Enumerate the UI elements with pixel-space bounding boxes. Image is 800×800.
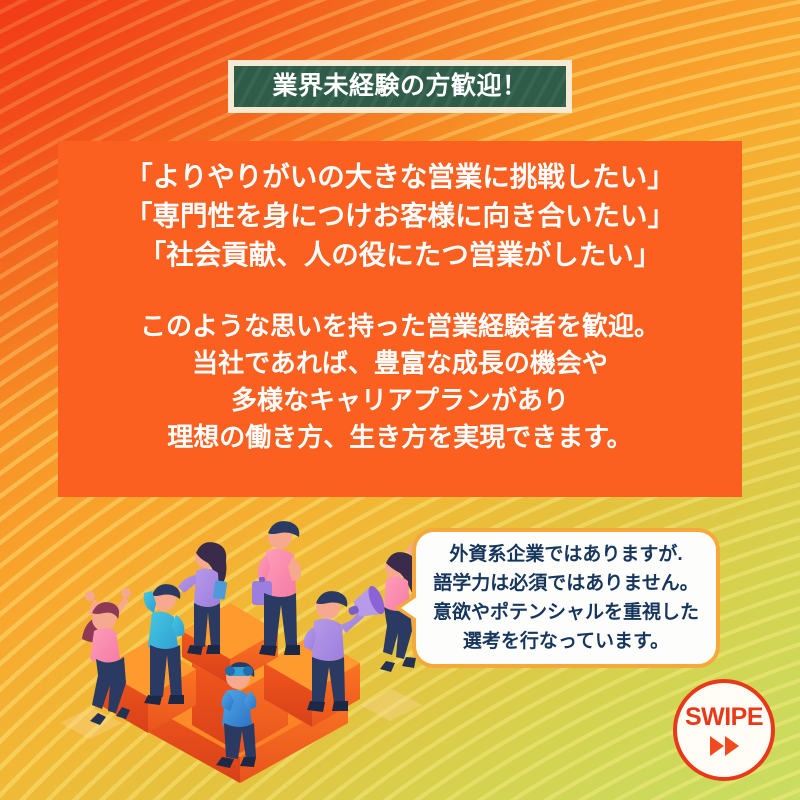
body-line-2: 当社であれば、豊富な成長の機会や (192, 345, 608, 382)
quote-group: 「よりやりがいの大きな営業に挑戦したい」 「専門性を身につけお客様に向き合いたい… (125, 157, 675, 274)
body-line-4: 理想の働き方、生き方を実現できます。 (167, 419, 632, 456)
swipe-label: SWIPE (685, 705, 763, 730)
copy-box: 「よりやりがいの大きな営業に挑戦したい」 「専門性を身につけお客様に向き合いたい… (58, 141, 742, 497)
speech-bubble-tail-inner (401, 594, 421, 622)
body-line-1: このような思いを持った営業経験者を歓迎。 (140, 308, 660, 345)
swipe-button[interactable]: SWIPE (673, 679, 775, 781)
promo-slide: 業界未経験の方歓迎！ 「よりやりがいの大きな営業に挑戦したい」 「専門性を身につ… (0, 0, 800, 800)
fast-forward-icon (710, 736, 739, 756)
isometric-team-illustration (30, 495, 450, 785)
body-line-3: 多様なキャリアプランがあり (231, 382, 569, 419)
headline-text: 業界未経験の方歓迎！ (272, 74, 527, 99)
speech-bubble: 外資系企業ではありますが. 語学力は必須ではありません。 意欲やポテンシャルを重… (412, 528, 720, 668)
bubble-line-1: 外資系企業ではありますが. (449, 540, 682, 569)
triangle-1 (710, 736, 724, 756)
body-group: このような思いを持った営業経験者を歓迎。 当社であれば、豊富な成長の機会や 多様… (140, 308, 660, 456)
quote-line-2: 「専門性を身につけお客様に向き合いたい」 (125, 196, 675, 235)
headline-plate-inner: 業界未経験の方歓迎！ (234, 66, 566, 107)
headline-plate: 業界未経験の方歓迎！ (228, 60, 572, 113)
bubble-line-4: 選考を行なっています。 (463, 627, 669, 656)
quote-line-3: 「社会貢献、人の役にたつ営業がしたい」 (139, 235, 662, 274)
bubble-line-2: 語学力は必須ではありません。 (433, 569, 698, 598)
triangle-2 (725, 736, 739, 756)
bubble-line-3: 意欲やポテンシャルを重視した (433, 598, 699, 627)
quote-line-1: 「よりやりがいの大きな営業に挑戦したい」 (125, 157, 674, 196)
